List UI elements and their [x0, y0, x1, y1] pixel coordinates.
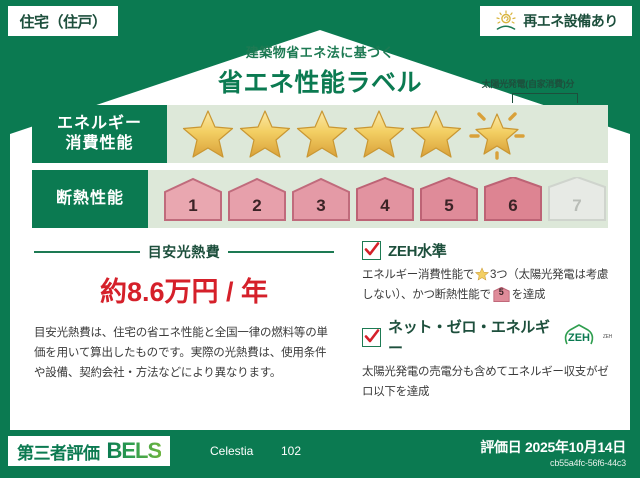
insulation-rating-panel: 1 2 3	[148, 170, 608, 228]
inline-grade-badge: 5	[493, 287, 510, 302]
grade-badge-value: 3	[316, 196, 325, 216]
grade-badge-unachieved: 7	[546, 177, 608, 221]
utility-cost-heading: 目安光熱費	[34, 242, 334, 262]
claim-net-zero-energy-title: ネット・ゼロ・エネルギー	[388, 316, 552, 358]
svg-text:ZEH: ZEH	[568, 332, 590, 344]
claim-zeh-standard-header: ZEH水準	[362, 240, 612, 261]
label-title-block: 建築物省エネ法に基づく 省エネ性能ラベル	[10, 42, 630, 99]
grade-badge: 4	[354, 177, 416, 221]
bels-certification-box: 第三者評価 BELS	[8, 436, 170, 466]
building-name: Celestia	[210, 444, 253, 458]
title-subtitle: 建築物省エネ法に基づく	[10, 42, 630, 61]
energy-label-line2: 消費性能	[65, 134, 133, 154]
claim-body-part-c: を達成	[512, 289, 546, 301]
grade-badge: 2	[226, 177, 288, 221]
claim-zeh-standard: ZEH水準 エネルギー消費性能で3つ（太陽光発電は考慮しない）、かつ断熱性能で5…	[362, 240, 612, 305]
heading-rule-right	[228, 251, 334, 253]
sun-solar-icon	[494, 10, 518, 32]
claim-body-part-a: エネルギー消費性能で	[362, 269, 474, 281]
label-content: 建築物省エネ法に基づく 省エネ性能ラベル エネルギー 消費性能	[10, 30, 630, 430]
star-icon	[181, 108, 235, 160]
star-icon	[352, 108, 406, 160]
grade-badge: 6	[482, 177, 544, 221]
grade-badge-value: 4	[380, 196, 389, 216]
star-rating	[167, 106, 528, 162]
evaluation-id: cb55a4fc-56f6-44c3	[550, 458, 626, 468]
bottom-bar: 第三者評価 BELS Celestia 102 評価日 2025年10月14日 …	[0, 430, 640, 478]
grade-badge-value: 6	[508, 196, 517, 216]
solar-annotation-bracket	[512, 93, 578, 103]
energy-performance-label-box: エネルギー 消費性能	[32, 105, 167, 163]
grade-badge-value: 7	[572, 196, 581, 216]
claim-zeh-standard-body: エネルギー消費性能で3つ（太陽光発電は考慮しない）、かつ断熱性能で5を達成	[362, 266, 612, 305]
claim-zeh-standard-title: ZEH水準	[388, 240, 447, 261]
solar-annotation-label: 太陽光発電(自家消費)分	[462, 77, 594, 90]
energy-label-line1: エネルギー	[57, 114, 142, 134]
claim-net-zero-energy: ネット・ゼロ・エネルギー ZEH ZEH 太陽光発電の売電分も含めてエネルギー収…	[362, 316, 612, 402]
housing-type-label: 住宅（住戸）	[19, 11, 106, 32]
claims-block: ZEH水準 エネルギー消費性能で3つ（太陽光発電は考慮しない）、かつ断熱性能で5…	[362, 240, 612, 413]
grade-badge-value: 1	[188, 196, 197, 216]
evaluation-date: 評価日 2025年10月14日	[480, 437, 626, 457]
star-solar-icon	[466, 106, 528, 162]
claim-net-zero-energy-body: 太陽光発電の売電分も含めてエネルギー収支がゼロ以下を達成	[362, 363, 612, 402]
grade-badge: 1	[162, 177, 224, 221]
insulation-performance-label-box: 断熱性能	[32, 170, 148, 228]
claim-net-zero-energy-header: ネット・ゼロ・エネルギー ZEH ZEH	[362, 316, 612, 358]
grade-badge-value: 2	[252, 196, 261, 216]
claim-star-count: 3つ	[490, 269, 507, 281]
checkbox-checked-icon	[362, 328, 381, 347]
utility-cost-heading-text: 目安光熱費	[148, 242, 221, 262]
energy-performance-label: 住宅（住戸） 再エネ設備あり	[0, 0, 640, 478]
renewable-equipment-label: 再エネ設備あり	[523, 11, 618, 31]
insulation-performance-row: 断熱性能 1 2	[32, 170, 608, 228]
star-icon	[409, 108, 463, 160]
insulation-label-line1: 断熱性能	[56, 189, 124, 209]
unit-number: 102	[281, 444, 301, 458]
energy-rating-panel: 太陽光発電(自家消費)分	[167, 105, 608, 163]
grade-badge-row: 1 2 3	[148, 177, 608, 221]
star-icon	[238, 108, 292, 160]
bels-logo-text: BELS	[107, 438, 162, 464]
heading-rule-left	[34, 251, 140, 253]
zeh-logo-subtext: ZEH	[603, 334, 612, 340]
utility-cost-value: 約8.6万円 / 年	[34, 270, 334, 309]
grade-badge: 3	[290, 177, 352, 221]
utility-cost-note: 目安光熱費は、住宅の省エネ性能と全国一律の燃料等の単価を用いて算出したものです。…	[34, 323, 334, 383]
energy-performance-row: エネルギー 消費性能	[32, 105, 608, 163]
utility-cost-block: 目安光熱費 約8.6万円 / 年 目安光熱費は、住宅の省エネ性能と全国一律の燃料…	[34, 242, 334, 383]
star-icon	[295, 108, 349, 160]
inline-grade-value: 5	[493, 287, 510, 302]
checkbox-checked-icon	[362, 241, 381, 260]
grade-badge: 5	[418, 177, 480, 221]
zeh-house-logo-icon: ZEH	[562, 324, 596, 351]
third-party-evaluation-label: 第三者評価	[17, 439, 100, 464]
inline-star-icon	[475, 267, 489, 281]
grade-badge-value: 5	[444, 196, 453, 216]
